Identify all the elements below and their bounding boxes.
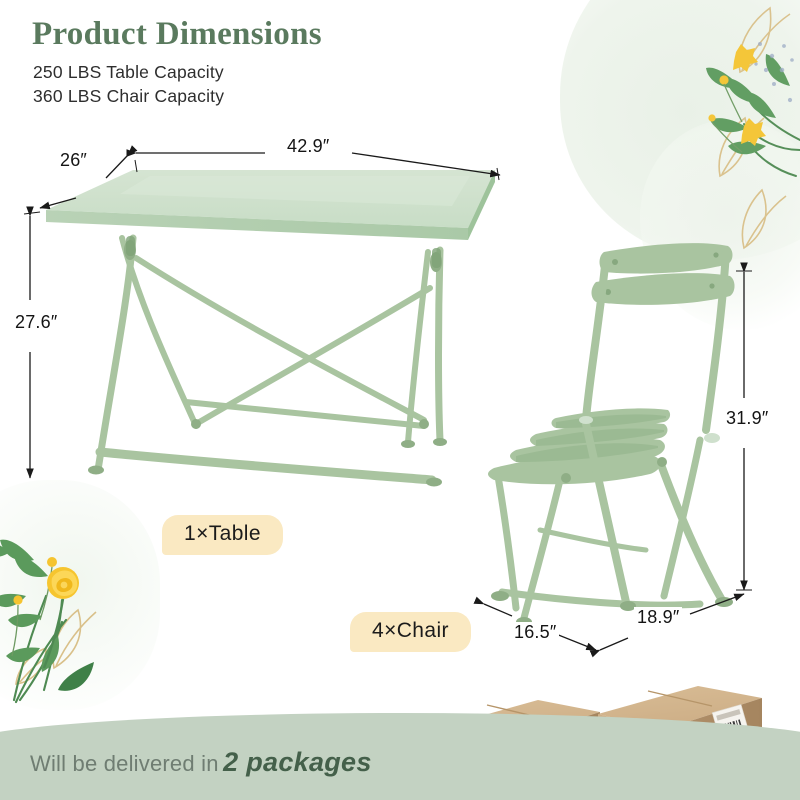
infographic-canvas: PAPER BOX HIGH QUALITY PAPER BOX PAPER B… <box>0 0 800 800</box>
dimension-label-table-height: 27.6″ <box>12 312 60 333</box>
delivery-highlight-text: 2 packages <box>223 747 372 777</box>
delivery-lead-text: Will be delivered in <box>30 751 219 776</box>
dimension-label-chair-height: 31.9″ <box>723 408 771 429</box>
folding-table-illustration <box>46 170 495 487</box>
floral-decor-bottom-left <box>0 540 96 702</box>
badge-chair-quantity: 4×Chair <box>350 612 471 652</box>
illustration-layer: PAPER BOX HIGH QUALITY PAPER BOX PAPER B… <box>0 0 800 800</box>
delivery-text: Will be delivered in 2 packages <box>30 747 372 778</box>
floral-decor-top-right <box>706 8 800 248</box>
delivery-band: Will be delivered in 2 packages <box>0 705 800 800</box>
folding-chair-illustration <box>488 243 735 627</box>
dimension-label-chair-depth: 18.9″ <box>634 607 682 628</box>
dimension-label-chair-width: 16.5″ <box>511 622 559 643</box>
page-title: Product Dimensions <box>32 16 322 53</box>
dimension-label-table-depth: 26″ <box>57 150 90 171</box>
badge-table-quantity: 1×Table <box>162 515 283 555</box>
flower-rose <box>47 567 79 599</box>
table-capacity-text: 250 LBS Table Capacity <box>33 62 224 83</box>
chair-capacity-text: 360 LBS Chair Capacity <box>33 86 224 107</box>
dimension-label-table-width: 42.9″ <box>284 136 332 157</box>
